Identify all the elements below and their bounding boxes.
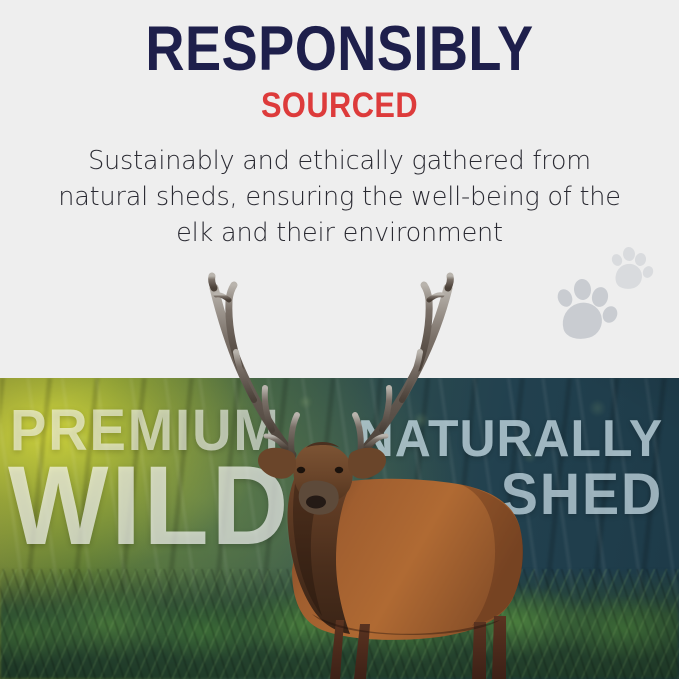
elk-photo-section: PREMIUM WILD NATURALLY SHED [0,378,679,679]
paw-toe [600,304,620,325]
paw-toe [641,264,655,279]
overlay-word-shed: SHED [501,468,663,521]
product-feature-banner: PREMIUM WILD NATURALLY SHED RESPONSIBLY … [0,0,679,679]
paw-toe [622,246,635,261]
headline-panel: RESPONSIBLY SOURCED Sustainably and ethi… [0,0,679,378]
paw-print-icon-large [556,277,618,343]
page-subtitle: SOURCED [41,88,639,123]
overlay-word-naturally: NATURALLY [358,416,663,464]
description-text: Sustainably and ethically gathered from … [42,143,637,252]
paw-toe [573,278,592,301]
overlay-word-wild: WILD [8,454,291,557]
page-title: RESPONSIBLY [48,18,632,81]
